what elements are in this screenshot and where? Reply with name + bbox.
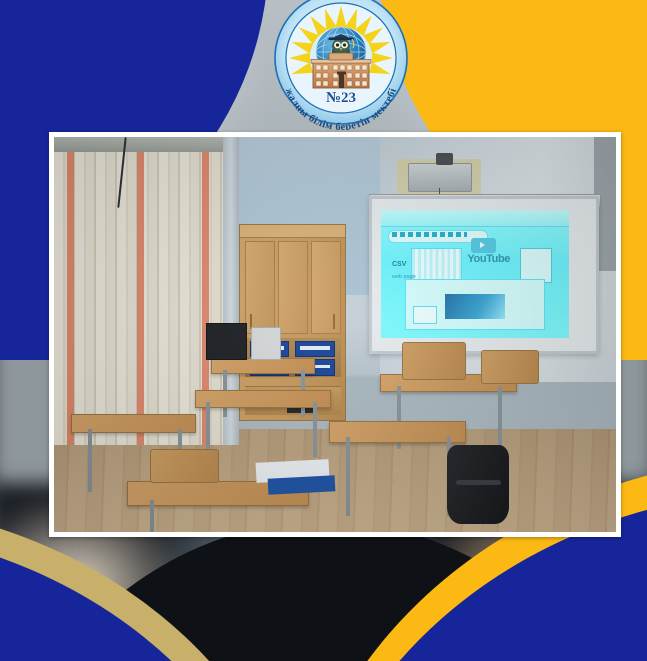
play-icon <box>471 238 496 253</box>
desk <box>195 390 332 408</box>
desk <box>211 358 314 374</box>
chair-back <box>481 350 539 384</box>
cabinet-top <box>240 225 345 238</box>
desk-leg <box>313 402 317 457</box>
school-emblem: №23 жалпы білім беретін мектебі <box>265 0 417 130</box>
classroom-presentation-photo: YouTube CSV web page <box>54 137 616 532</box>
cabinet-door <box>245 241 275 335</box>
blue-folder-on-desk <box>267 475 335 494</box>
cabinet-handle <box>333 314 335 329</box>
emblem-school-number: №23 <box>326 90 356 106</box>
desk-leg <box>150 500 154 532</box>
desk-leg <box>346 437 350 516</box>
desk-leg <box>88 429 92 492</box>
cabinet-doors <box>245 241 341 335</box>
desktop-monitor <box>206 323 247 361</box>
projector-bracket <box>436 153 453 165</box>
desk-leg <box>498 386 502 449</box>
photo-frame: YouTube CSV web page <box>49 132 621 537</box>
projected-video-panel <box>405 279 545 330</box>
projected-web-page: YouTube CSV web page <box>381 210 570 338</box>
chair-back <box>402 342 466 380</box>
chair-back <box>150 449 219 483</box>
blue-binder <box>295 341 336 358</box>
cabinet-door <box>311 241 341 335</box>
cabinet-door <box>278 241 308 335</box>
blind-rail <box>54 137 223 152</box>
interactive-whiteboard[interactable]: YouTube CSV web page <box>369 196 599 354</box>
poster-canvas: №23 жалпы білім беретін мектебі <box>0 0 647 661</box>
student-backpack <box>447 445 509 524</box>
computer-tower <box>251 327 281 361</box>
video-player-area <box>445 294 506 319</box>
video-thumbnail <box>520 248 552 283</box>
blind-stripe-orange <box>137 137 144 445</box>
browser-url-text <box>392 232 467 237</box>
browser-toolbar <box>381 210 570 228</box>
csv-label: CSV <box>392 261 406 268</box>
sidebar-thumbnail <box>413 306 437 324</box>
youtube-wordmark: YouTube <box>467 253 510 265</box>
blind-stripe-orange <box>67 137 74 445</box>
